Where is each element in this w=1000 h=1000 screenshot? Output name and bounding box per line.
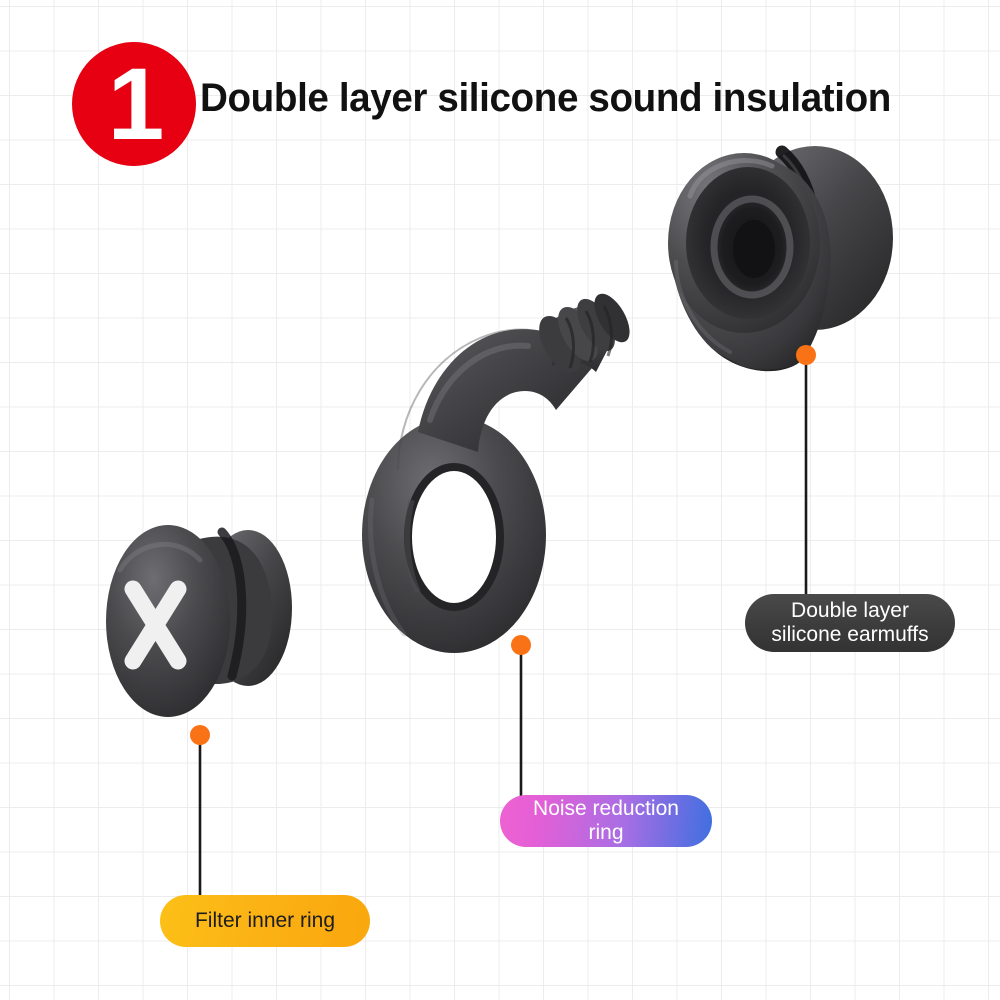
marker-dot-filter-inner-ring: [190, 725, 210, 745]
part-filter-inner-ring: [106, 525, 292, 717]
callout-noise-reduction-ring[interactable]: Noise reduction ring: [500, 795, 712, 847]
part-double-layer-silicone-earmuffs: [668, 146, 893, 371]
product-illustration: [0, 0, 1000, 1000]
callout-earmuff-line-1: Double layer: [791, 599, 909, 623]
callout-earmuff-line-2: silicone earmuffs: [771, 623, 928, 647]
diagram-canvas: 1 Double layer silicone sound insulation: [0, 0, 1000, 1000]
marker-dot-double-layer-silicone-earmuffs: [796, 345, 816, 365]
callout-double-layer-silicone-earmuffs[interactable]: Double layer silicone earmuffs: [745, 594, 955, 652]
callout-filter-inner-ring[interactable]: Filter inner ring: [160, 895, 370, 947]
part-noise-reduction-ring: [362, 288, 637, 653]
marker-dot-noise-reduction-ring: [511, 635, 531, 655]
